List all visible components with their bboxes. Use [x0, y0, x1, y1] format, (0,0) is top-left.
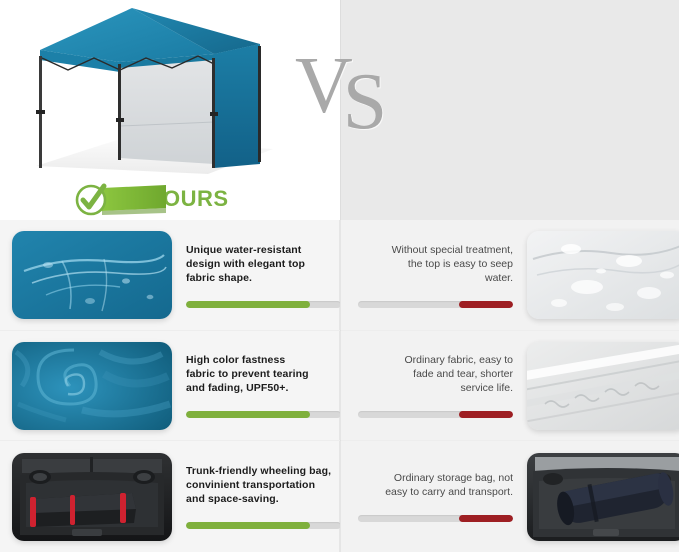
feature-cell-ours: Unique water-resistant design with elega…: [0, 220, 340, 330]
blue-swirled-fabric-photo: [12, 342, 172, 430]
rating-bar-fill: [186, 411, 310, 418]
rating-bar: [186, 301, 341, 308]
car-trunk-with-wheeled-bag-photo: [12, 453, 172, 541]
feature-text: High color fastness fabric to prevent te…: [186, 353, 309, 395]
feature-info: Ordinary storage bag, not easy to carry …: [352, 453, 527, 541]
hero-ours-panel: OURS: [0, 0, 340, 220]
feature-text: Trunk-friendly wheeling bag, convinient …: [186, 464, 331, 506]
feature-row: High color fastness fabric to prevent te…: [0, 330, 679, 440]
feature-info: Without special treatment, the top is ea…: [352, 231, 527, 319]
feature-info: Unique water-resistant design with elega…: [172, 231, 347, 319]
feature-cell-others: Ordinary fabric, easy to fade and tear, …: [340, 331, 679, 440]
gray-water-pooling-fabric-photo: [527, 231, 679, 319]
rating-bar-fill: [459, 515, 513, 522]
feature-info: Ordinary fabric, easy to fade and tear, …: [352, 342, 527, 430]
car-trunk-with-round-bag-photo: [527, 453, 679, 541]
rating-bar: [358, 301, 513, 308]
feature-cell-ours: High color fastness fabric to prevent te…: [0, 331, 340, 440]
feature-row: Trunk-friendly wheeling bag, convinient …: [0, 440, 679, 552]
hero-comparison: OURS: [0, 0, 679, 220]
rating-bar-fill: [186, 301, 310, 308]
rating-bar: [186, 411, 341, 418]
rating-bar-fill: [186, 522, 310, 529]
feature-rows: Unique water-resistant design with elega…: [0, 220, 679, 552]
check-circle-icon: [74, 182, 169, 216]
comparison-infographic: OURS: [0, 0, 679, 552]
rating-bar: [358, 411, 513, 418]
blue-canopy-tent-icon: [28, 6, 308, 181]
ours-badge-label: OURS: [163, 182, 229, 216]
faded-gray-fabric-photo: [527, 342, 679, 430]
feature-row: Unique water-resistant design with elega…: [0, 220, 679, 330]
rating-bar: [358, 515, 513, 522]
feature-text: Without special treatment, the top is ea…: [392, 243, 513, 285]
feature-text: Ordinary fabric, easy to fade and tear, …: [404, 353, 513, 395]
feature-text: Unique water-resistant design with elega…: [186, 243, 305, 285]
rating-bar-fill: [459, 411, 513, 418]
feature-cell-ours: Trunk-friendly wheeling bag, convinient …: [0, 441, 340, 552]
feature-info: High color fastness fabric to prevent te…: [172, 342, 347, 430]
ours-badge: OURS: [74, 182, 229, 216]
rating-bar-fill: [459, 301, 513, 308]
vs-label: VS: [295, 48, 389, 124]
hero-others-panel: OTHERS: [340, 0, 679, 220]
feature-cell-others: Ordinary storage bag, not easy to carry …: [340, 441, 679, 552]
feature-info: Trunk-friendly wheeling bag, convinient …: [172, 453, 347, 541]
feature-cell-others: Without special treatment, the top is ea…: [340, 220, 679, 330]
rating-bar: [186, 522, 341, 529]
blue-water-beading-fabric-photo: [12, 231, 172, 319]
feature-text: Ordinary storage bag, not easy to carry …: [385, 471, 513, 499]
